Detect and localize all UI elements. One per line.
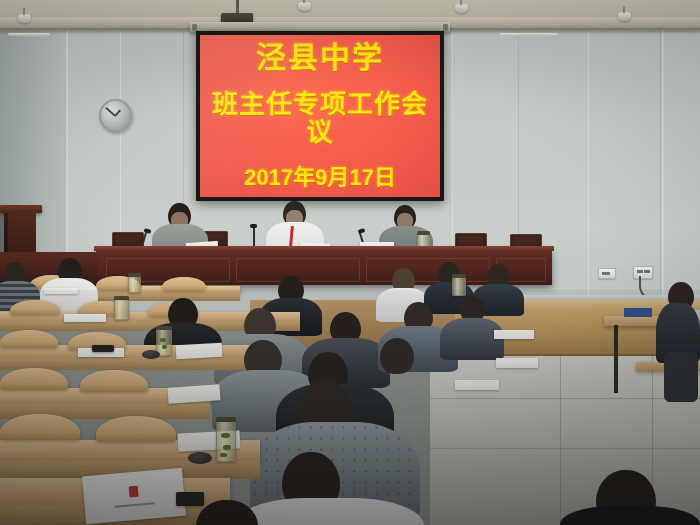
ashtray — [188, 452, 212, 464]
meeting-room-photo: 泾县中学 班主任专项工作会议 2017年9月17日 — [0, 0, 700, 525]
desk-papers — [64, 314, 106, 322]
smartphone — [92, 345, 114, 352]
spotlight-icon — [18, 14, 31, 23]
floor-tile-line — [560, 356, 561, 525]
lectern-body — [4, 212, 36, 257]
microphone-head — [250, 224, 257, 228]
desk-papers — [455, 380, 499, 390]
slide-subtitle: 班主任专项工作会议 — [200, 91, 440, 146]
slide-date: 2017年9月17日 — [244, 166, 396, 189]
seat-back — [162, 277, 206, 291]
clock-hour-hand — [114, 109, 121, 116]
floor-tile-line — [430, 398, 700, 399]
tube-light — [500, 33, 558, 36]
lectern-shadow — [0, 213, 8, 257]
wall-panel-seam — [660, 30, 661, 300]
projection-screen: 泾县中学 班主任专项工作会议 2017年9月17日 — [196, 31, 444, 201]
clock-minute-hand — [105, 107, 115, 116]
wall-switch-icon — [598, 268, 616, 279]
spotlight-icon — [298, 2, 311, 11]
side-desk-book — [624, 308, 652, 317]
tea-jar — [452, 276, 466, 296]
meeting-booklet — [82, 468, 186, 525]
seat-back — [0, 368, 68, 390]
tube-light — [8, 33, 50, 36]
tea-jar — [216, 420, 236, 462]
smartphone — [176, 492, 204, 506]
wall-panel-seam — [588, 30, 589, 300]
spotlight-icon — [618, 12, 631, 21]
seat-back — [0, 330, 58, 348]
seat-back — [80, 370, 148, 392]
desk-papers — [44, 288, 78, 294]
seat-back — [10, 300, 60, 315]
booklet-title-line — [115, 502, 155, 507]
slide-title: 泾县中学 — [256, 43, 384, 75]
side-desk-leg — [614, 325, 618, 393]
tea-jar — [128, 275, 141, 293]
spotlight-icon — [455, 4, 468, 13]
floor-tile-line — [430, 448, 700, 449]
booklet-logo — [129, 486, 139, 498]
tea-jar — [114, 298, 129, 320]
desk-papers — [496, 358, 538, 368]
head-table — [96, 249, 552, 285]
ashtray — [142, 350, 160, 359]
projected-slide: 泾县中学 班主任专项工作会议 2017年9月17日 — [200, 35, 440, 197]
desk-papers — [176, 343, 223, 359]
desk-papers — [494, 330, 534, 339]
right-wall-corner — [662, 0, 664, 320]
seat-back — [96, 416, 176, 442]
wall-clock-icon — [99, 99, 132, 132]
